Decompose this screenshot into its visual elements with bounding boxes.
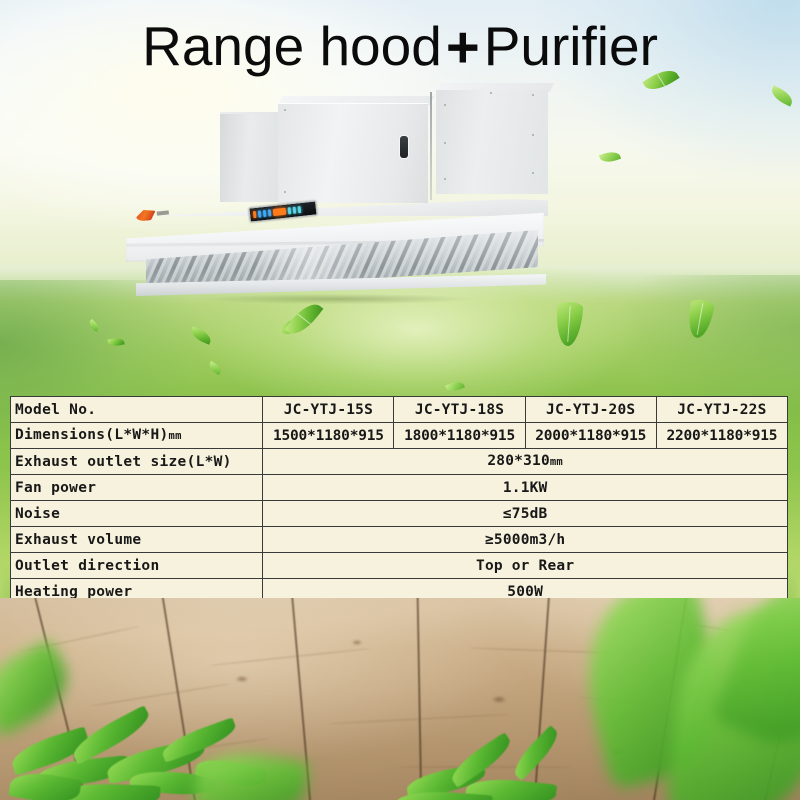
row-label-noise: Noise bbox=[11, 501, 263, 527]
led-indicator-icon bbox=[258, 210, 262, 217]
table-row: Noise ≤75dB bbox=[11, 501, 788, 527]
cell-outlet-direction: Top or Rear bbox=[263, 553, 788, 579]
dimensions-label-unit: mm bbox=[169, 430, 182, 442]
table-row: Exhaust volume ≥5000m3/h bbox=[11, 527, 788, 553]
led-indicator-icon bbox=[268, 209, 272, 216]
hood-shadow bbox=[158, 292, 518, 306]
table-row: Model No. JC-YTJ-15S JC-YTJ-18S JC-YTJ-2… bbox=[11, 397, 788, 423]
wood-deck-background bbox=[0, 598, 800, 800]
cell-exhaust-volume: ≥5000m3/h bbox=[263, 527, 788, 553]
purifier-box-right bbox=[436, 90, 548, 194]
title-purifier: Purifier bbox=[484, 15, 658, 77]
control-panel[interactable] bbox=[248, 200, 317, 222]
row-label-exhaust-outlet-size: Exhaust outlet size(L*W) bbox=[11, 449, 263, 475]
led-display-icon bbox=[273, 208, 287, 216]
table-row: Fan power 1.1KW bbox=[11, 475, 788, 501]
plus-icon: + bbox=[442, 15, 484, 80]
cell-dim-18s: 1800*1180*915 bbox=[394, 423, 525, 449]
dimensions-label-main: Dimensions(L*W*H) bbox=[15, 427, 169, 443]
cell-exhaust-outlet-size: 280*310mm bbox=[263, 449, 788, 475]
table-row: Dimensions(L*W*H)mm 1500*1180*915 1800*1… bbox=[11, 423, 788, 449]
led-indicator-icon bbox=[298, 206, 302, 213]
cell-dim-20s: 2000*1180*915 bbox=[525, 423, 656, 449]
led-power-icon bbox=[253, 211, 257, 218]
page-title: Range hood+Purifier bbox=[0, 14, 800, 80]
wood-knot bbox=[492, 696, 506, 703]
led-indicator-icon bbox=[263, 210, 267, 217]
table-row: Outlet direction Top or Rear bbox=[11, 553, 788, 579]
led-indicator-icon bbox=[288, 207, 292, 214]
purifier-door-handle-icon bbox=[400, 136, 408, 158]
wood-knot bbox=[236, 676, 248, 682]
wood-knot bbox=[352, 640, 362, 645]
cell-dim-22s: 2200*1180*915 bbox=[656, 423, 787, 449]
brand-logo-icon bbox=[135, 206, 170, 223]
product-image bbox=[118, 78, 548, 318]
cell-fan-power: 1.1KW bbox=[263, 475, 788, 501]
foliage-cluster-center bbox=[396, 740, 596, 800]
cell-model-18s: JC-YTJ-18S bbox=[394, 397, 525, 423]
outlet-size-unit: mm bbox=[550, 456, 563, 468]
cell-dim-15s: 1500*1180*915 bbox=[263, 423, 394, 449]
led-indicator-icon bbox=[293, 207, 297, 214]
spec-table-container: Model No. JC-YTJ-15S JC-YTJ-18S JC-YTJ-2… bbox=[10, 396, 788, 605]
row-label-outlet-direction: Outlet direction bbox=[11, 553, 263, 579]
row-label-fan-power: Fan power bbox=[11, 475, 263, 501]
spec-table: Model No. JC-YTJ-15S JC-YTJ-18S JC-YTJ-2… bbox=[10, 396, 788, 605]
title-range-hood: Range hood bbox=[142, 15, 442, 77]
outlet-size-main: 280*310 bbox=[487, 453, 550, 469]
table-row: Exhaust outlet size(L*W) 280*310mm bbox=[11, 449, 788, 475]
purifier-box-left bbox=[220, 114, 283, 202]
product-banner: Range hood+Purifier bbox=[0, 0, 800, 800]
row-label-exhaust-volume: Exhaust volume bbox=[11, 527, 263, 553]
row-label-dimensions: Dimensions(L*W*H)mm bbox=[11, 423, 263, 449]
cell-model-15s: JC-YTJ-15S bbox=[263, 397, 394, 423]
cell-noise: ≤75dB bbox=[263, 501, 788, 527]
row-label-model-no: Model No. bbox=[11, 397, 263, 423]
purifier-seam bbox=[430, 92, 432, 200]
cell-model-20s: JC-YTJ-20S bbox=[525, 397, 656, 423]
cell-model-22s: JC-YTJ-22S bbox=[656, 397, 787, 423]
